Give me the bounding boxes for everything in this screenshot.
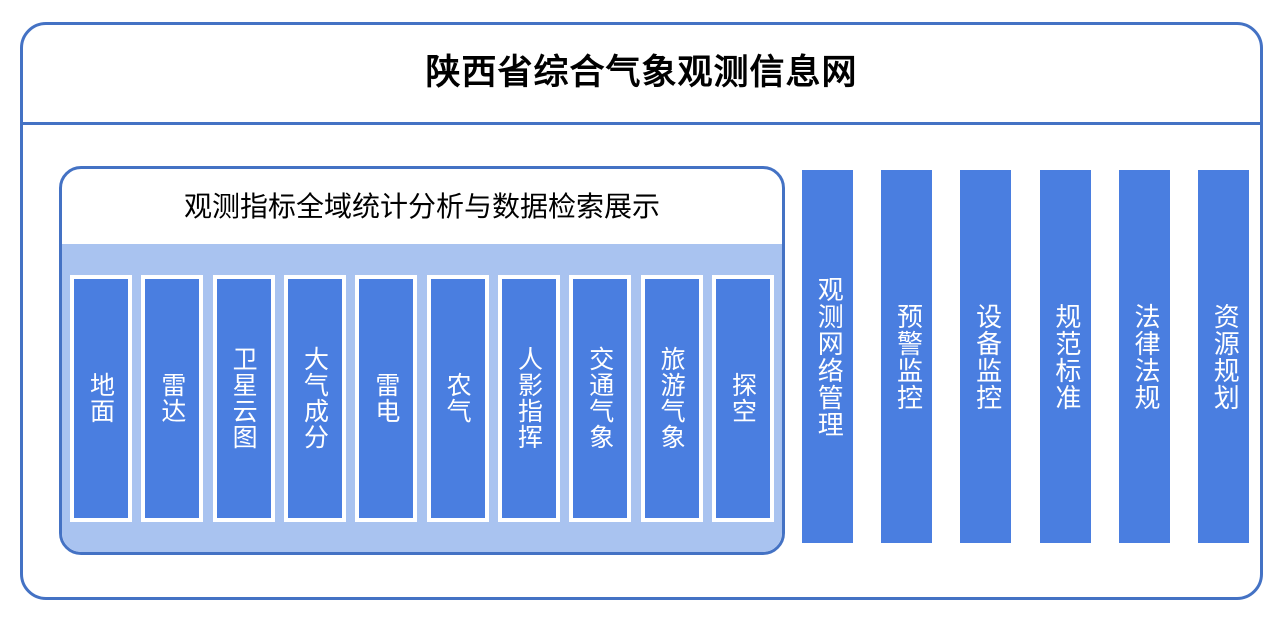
support-column: 观测网络管理 预警监控 设备监控 规范标准 法律法规 资源规划: [802, 170, 1249, 543]
domain-card-weather-modification-command[interactable]: 人影指挥: [498, 275, 560, 522]
domain-card-tourism-meteorology[interactable]: 旅游气象: [641, 275, 703, 522]
support-card-label: 设备监控: [972, 303, 1000, 411]
support-card-resource-planning[interactable]: 资源规划: [1198, 170, 1249, 543]
domain-card-sounding[interactable]: 探空: [712, 275, 774, 522]
support-card-label: 预警监控: [893, 303, 921, 411]
domain-card-ground[interactable]: 地面: [70, 275, 132, 522]
support-card-equipment-monitoring[interactable]: 设备监控: [960, 170, 1011, 543]
page-title: 陕西省综合气象观测信息网: [23, 25, 1260, 122]
domain-card-radar[interactable]: 雷达: [141, 275, 203, 522]
support-card-label: 观测网络管理: [814, 276, 842, 438]
domain-card-label: 人影指挥: [515, 346, 542, 450]
domain-card-traffic-meteorology[interactable]: 交通气象: [569, 275, 631, 522]
domain-card-label: 农气: [444, 372, 471, 424]
domain-card-label: 卫星云图: [230, 346, 257, 450]
system-frame: 陕西省综合气象观测信息网 观测指标全域统计分析与数据检索展示 地面 雷达 卫星云…: [20, 22, 1263, 600]
domain-card-label: 交通气象: [587, 346, 614, 450]
domain-card-label: 雷电: [373, 372, 400, 424]
domain-card-agrometeorology[interactable]: 农气: [427, 275, 489, 522]
analysis-panel-card-row: 地面 雷达 卫星云图 大气成分 雷电 农气 人影指挥 交通气象: [62, 244, 782, 552]
support-card-laws-and-regulations[interactable]: 法律法规: [1119, 170, 1170, 543]
support-card-alert-monitoring[interactable]: 预警监控: [881, 170, 932, 543]
domain-card-label: 地面: [88, 372, 115, 424]
domain-card-atmospheric-composition[interactable]: 大气成分: [284, 275, 346, 522]
domain-card-lightning[interactable]: 雷电: [355, 275, 417, 522]
support-card-observation-network-management[interactable]: 观测网络管理: [802, 170, 853, 543]
domain-card-label: 探空: [729, 372, 756, 424]
analysis-panel: 观测指标全域统计分析与数据检索展示 地面 雷达 卫星云图 大气成分 雷电 农气 …: [59, 166, 785, 555]
support-card-standards-and-specifications[interactable]: 规范标准: [1040, 170, 1091, 543]
title-divider: [23, 122, 1260, 125]
support-card-label: 法律法规: [1130, 303, 1158, 411]
support-card-label: 资源规划: [1210, 303, 1238, 411]
domain-card-satellite-cloud[interactable]: 卫星云图: [213, 275, 275, 522]
analysis-panel-title: 观测指标全域统计分析与数据检索展示: [62, 169, 782, 244]
domain-card-label: 旅游气象: [658, 346, 685, 450]
domain-card-label: 大气成分: [301, 346, 328, 450]
domain-card-label: 雷达: [159, 372, 186, 424]
support-card-label: 规范标准: [1051, 303, 1079, 411]
